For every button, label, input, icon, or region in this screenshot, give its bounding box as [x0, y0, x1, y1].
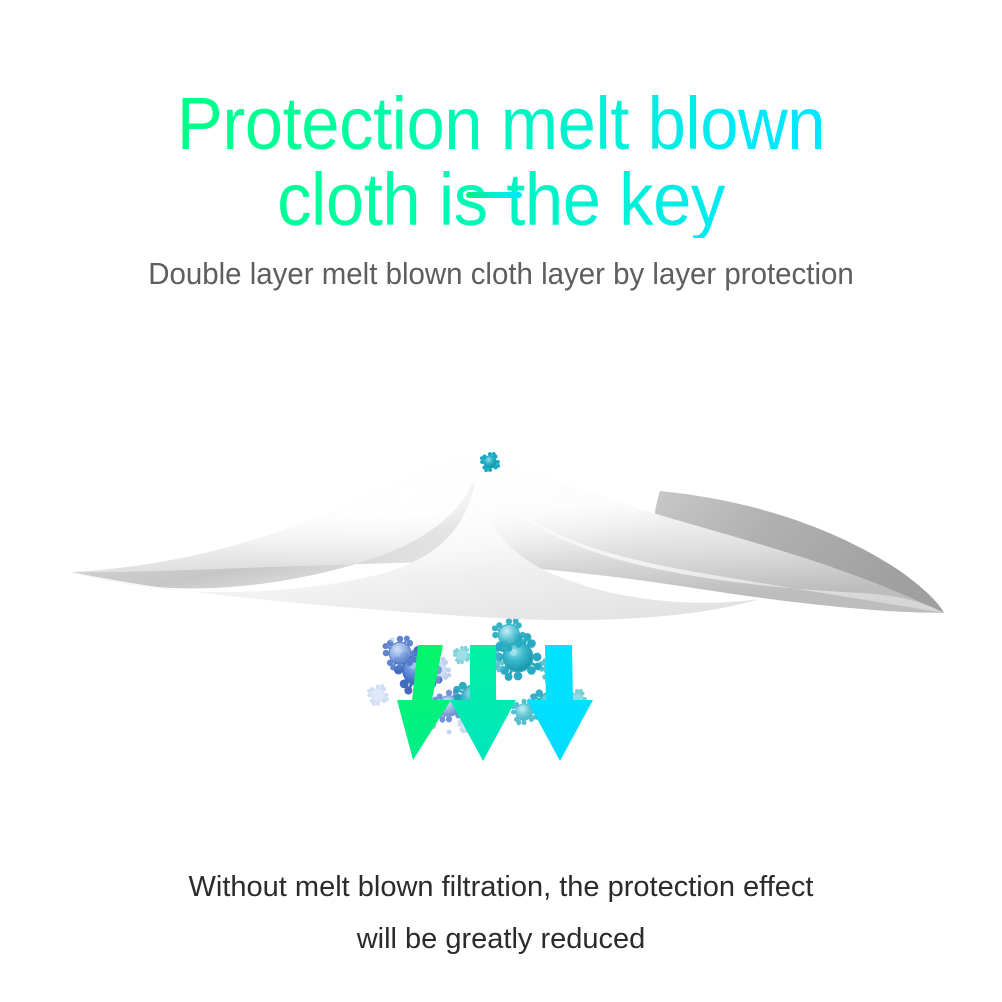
arrow-right-icon [527, 645, 593, 761]
illustration-stage [0, 295, 1002, 795]
virus-particle-blue [368, 685, 388, 705]
cloth-sheen [200, 459, 660, 591]
virus-speck [389, 637, 394, 642]
cloth-sheet [72, 453, 944, 620]
virus-particle-teal [454, 647, 471, 664]
virus-particle-teal [493, 619, 525, 651]
virus-particle-blue [384, 637, 417, 670]
bottom-caption: Without melt blown filtration, the prote… [0, 861, 1002, 965]
title-divider [466, 192, 522, 198]
virus-speck [447, 730, 452, 735]
poster-canvas: Protection melt blown cloth is the key D… [0, 0, 1002, 1002]
trapped-virus [481, 453, 499, 471]
arrow-group [397, 645, 593, 761]
subtitle: Double layer melt blown cloth layer by l… [25, 255, 977, 293]
page-title: Protection melt blown cloth is the key [35, 86, 967, 238]
